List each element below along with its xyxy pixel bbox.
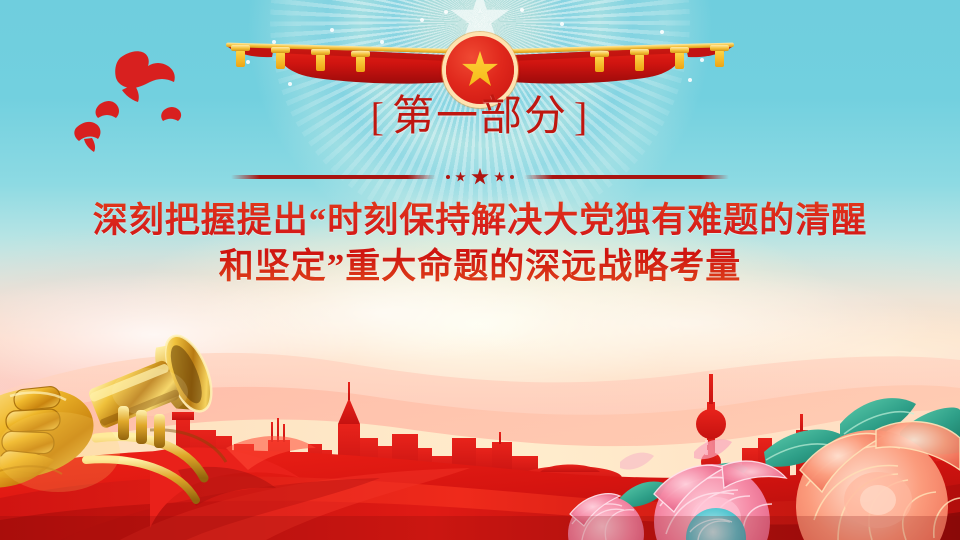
divider-small-star-icon xyxy=(455,172,466,183)
page-title: [第一部分] xyxy=(0,96,960,138)
subtitle: 深刻把握提出“时刻保持解决大党独有难题的清醒 和坚定”重大命题的深远战略考量 xyxy=(50,198,910,290)
divider-dot-icon xyxy=(446,175,450,179)
divider-star-cluster xyxy=(436,168,524,186)
subtitle-line-1: 深刻把握提出“时刻保持解决大党独有难题的清醒 xyxy=(50,198,910,244)
gold-star-icon xyxy=(461,50,499,88)
divider-line-right xyxy=(524,175,729,179)
divider-small-star-icon xyxy=(494,172,505,183)
divider-large-star-icon xyxy=(471,168,489,186)
section-label: 第一部分 xyxy=(392,94,568,140)
bracket-close: ] xyxy=(568,94,595,139)
divider xyxy=(0,164,960,190)
divider-dot-icon xyxy=(510,175,514,179)
subtitle-line-2: 和坚定”重大命题的深远战略考量 xyxy=(50,244,910,290)
slide-canvas: [第一部分] 深刻把握提出“时刻保持解决大党独有难题的清醒 和坚定”重大命题的深… xyxy=(0,0,960,540)
bracket-open: [ xyxy=(365,94,392,139)
divider-line-left xyxy=(231,175,436,179)
